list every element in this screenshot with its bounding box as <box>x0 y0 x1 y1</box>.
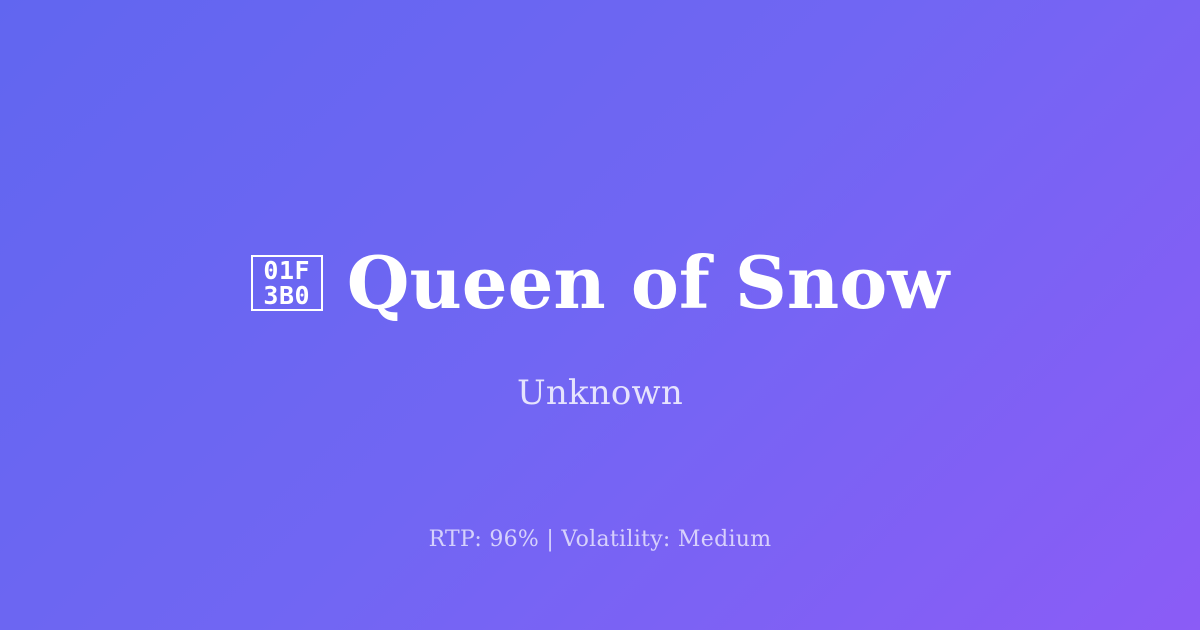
slot-machine-icon: 01F 3B0 <box>251 255 323 311</box>
game-preview-card: 01F 3B0 Queen of Snow Unknown RTP: 96% |… <box>0 0 1200 630</box>
tofu-codepoint-bottom: 3B0 <box>263 283 310 308</box>
page-title: Queen of Snow <box>347 245 950 321</box>
title-row: 01F 3B0 Queen of Snow <box>251 245 950 321</box>
game-provider-label: Unknown <box>517 373 683 414</box>
hero-block: 01F 3B0 Queen of Snow Unknown <box>0 245 1200 413</box>
tofu-codepoint-top: 01F <box>263 258 310 283</box>
game-stats-line: RTP: 96% | Volatility: Medium <box>0 526 1200 555</box>
